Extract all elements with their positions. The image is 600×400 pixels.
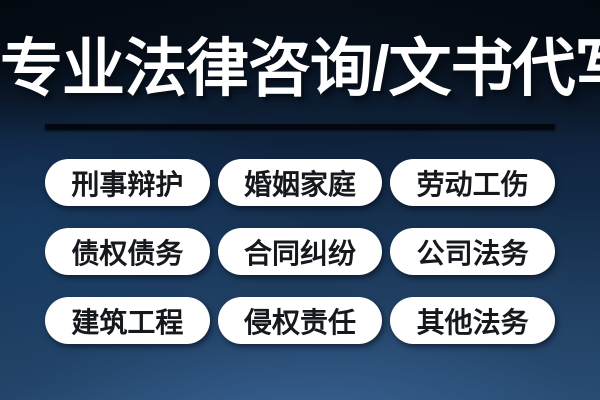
service-pill-construction-engineering[interactable]: 建筑工程: [45, 297, 210, 344]
poster-content: 专业法律咨询/文书代写 刑事辩护 婚姻家庭 劳动工伤 债权债务 合同纠纷 公司法…: [0, 0, 600, 400]
service-pill-marriage-family[interactable]: 婚姻家庭: [218, 159, 383, 206]
service-pill-grid: 刑事辩护 婚姻家庭 劳动工伤 债权债务 合同纠纷 公司法务 建筑工程 侵权责任 …: [45, 159, 555, 344]
service-pill-criminal-defense[interactable]: 刑事辩护: [45, 159, 210, 206]
page-title: 专业法律咨询/文书代写: [0, 30, 600, 108]
service-pill-corporate-legal[interactable]: 公司法务: [390, 228, 555, 275]
service-pill-other-legal[interactable]: 其他法务: [390, 297, 555, 344]
service-pill-contract-dispute[interactable]: 合同纠纷: [218, 228, 383, 275]
service-row-3: 建筑工程 侵权责任 其他法务: [45, 297, 555, 344]
service-pill-labor-injury[interactable]: 劳动工伤: [390, 159, 555, 206]
service-pill-tort-liability[interactable]: 侵权责任: [218, 297, 383, 344]
service-pill-creditor-debt[interactable]: 债权债务: [45, 228, 210, 275]
poster-canvas: 专业法律咨询/文书代写 刑事辩护 婚姻家庭 劳动工伤 债权债务 合同纠纷 公司法…: [0, 0, 600, 400]
service-row-2: 债权债务 合同纠纷 公司法务: [45, 228, 555, 275]
service-row-1: 刑事辩护 婚姻家庭 劳动工伤: [45, 159, 555, 206]
title-divider: [45, 124, 555, 130]
